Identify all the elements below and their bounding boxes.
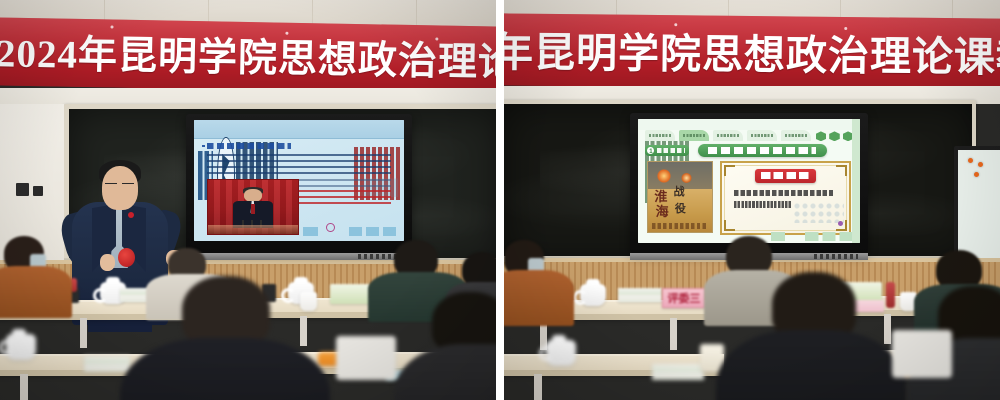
audience-member-foreground (404, 292, 496, 400)
magnet-icon (978, 162, 983, 167)
screen-indicator-leds (814, 254, 858, 259)
photo-person-head (244, 189, 262, 202)
screen-display: 1 淮 战 海 役 (638, 119, 860, 243)
slide-toolbar-buttons[interactable] (349, 227, 395, 237)
poster-title-char: 役 (675, 200, 686, 216)
audience-member (504, 240, 578, 320)
slide-tab-01[interactable] (645, 130, 675, 141)
slide-tab-02-active[interactable] (679, 130, 709, 141)
poster-caption-strip (652, 223, 709, 229)
slide-left (194, 120, 404, 241)
party-pin-icon (128, 212, 134, 218)
slide-tab-04[interactable] (747, 130, 777, 141)
switch-plate-icon (33, 186, 43, 196)
presenter-left-hand (100, 254, 115, 271)
banner-pin (844, 27, 847, 30)
card-headline-box (755, 169, 816, 183)
card-marker-icon (838, 221, 843, 226)
chair (336, 336, 396, 380)
slide-title-right (698, 144, 827, 158)
info-card (720, 161, 851, 234)
card-headline-glyphs (761, 172, 810, 179)
slide-hex-icons (816, 131, 854, 141)
slide-highlight-text (299, 190, 391, 207)
photo-collage: 2024年昆明学院思想政治理论课教师教 (0, 0, 1000, 400)
event-banner-right: 年昆明学院思想政治理论课教师教学 (504, 13, 1000, 91)
projection-screen-left[interactable] (186, 114, 412, 253)
section-badge-label (657, 148, 685, 153)
card-corner (724, 165, 735, 176)
right-panel-photo: 年昆明学院思想政治理论课教师教学 (504, 0, 1000, 400)
poster-title-char: 海 (656, 201, 669, 220)
card-row-battlefield (734, 201, 791, 207)
magnet-icon (968, 158, 973, 163)
card-corner (836, 165, 847, 176)
slide-right: 1 淮 战 海 役 (638, 119, 860, 243)
card-pattern (793, 202, 844, 223)
magnet-icon (974, 172, 979, 177)
banner-text-right: 年昆明学院思想政治理论课教师教学 (504, 18, 1000, 85)
card-corner (724, 220, 735, 231)
glasses-icon (105, 183, 117, 184)
teapot (6, 334, 36, 360)
section-badge: 1 (645, 145, 689, 156)
slide-secondary-text (299, 179, 391, 189)
slide-title-glyphs (708, 147, 816, 153)
slide-nav-button[interactable] (303, 227, 318, 237)
desk-leg (80, 318, 87, 348)
slide-tab-bar[interactable] (645, 130, 812, 141)
slide-side-strip (852, 119, 860, 243)
slide-tab-03[interactable] (713, 130, 743, 141)
event-banner-left: 2024年昆明学院思想政治理论课教师教 (0, 17, 496, 95)
poster-explosion (657, 169, 671, 183)
banner-pin (285, 32, 288, 35)
desk-leg (670, 318, 677, 350)
teapot (546, 340, 576, 366)
banner-pin (674, 23, 677, 26)
campaign-poster: 淮 战 海 役 (647, 161, 713, 232)
banner-pin (435, 37, 438, 40)
glasses-icon (122, 183, 134, 184)
teapot (580, 284, 606, 306)
poster-title-char: 战 (674, 183, 685, 199)
screen-display (194, 120, 404, 241)
slide-photo (207, 179, 299, 234)
left-panel-photo: 2024年昆明学院思想政治理论课教师教 (0, 0, 496, 400)
tissue-box (330, 284, 370, 304)
switch-plate-icon (16, 183, 29, 196)
slide-seal-icon (326, 223, 335, 232)
slide-tab-05[interactable] (781, 130, 811, 141)
slide-header (638, 119, 860, 130)
contestant-badge (118, 248, 135, 267)
panel-divider (496, 0, 504, 400)
slide-toolbar-buttons[interactable] (805, 232, 854, 241)
chair (892, 330, 952, 378)
audience-member-foreground (120, 276, 330, 400)
poster-explosion (681, 173, 691, 183)
photo-audience (208, 225, 298, 234)
photo-person-tie (251, 204, 255, 215)
desk-leg (20, 374, 28, 400)
books-stack (652, 364, 704, 380)
judge-sign: 评委三 (662, 288, 706, 308)
card-row-time (734, 190, 833, 196)
audience-member-foreground (716, 272, 906, 400)
projection-screen-right[interactable]: 1 淮 战 海 役 (630, 113, 868, 253)
audience-member (0, 236, 84, 316)
books-stack (618, 288, 662, 302)
hex-icon (816, 131, 827, 141)
presenter-head (102, 166, 138, 210)
hex-icon (829, 131, 840, 141)
banner-pin (110, 25, 113, 28)
slide-title-left (207, 143, 291, 149)
desk-leg (534, 374, 542, 400)
section-badge-number: 1 (647, 147, 654, 154)
